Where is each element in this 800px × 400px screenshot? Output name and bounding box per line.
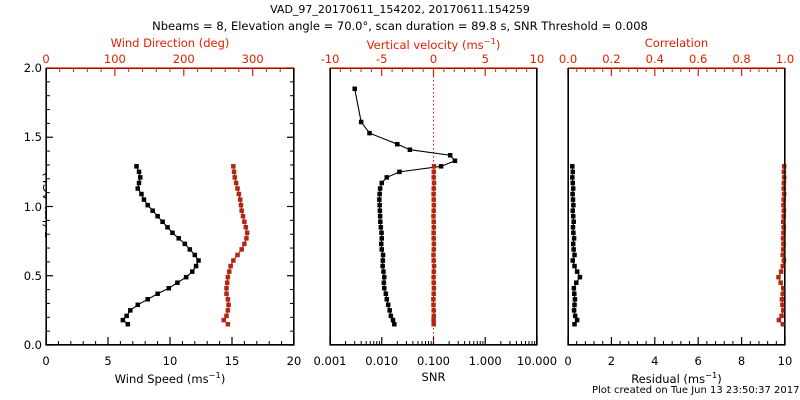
x-tick-label-p3-1: 2 (608, 354, 615, 368)
x-tick-label-p3-0: 0 (564, 354, 571, 368)
x-top-tick-label-p2-2: 0 (430, 52, 437, 66)
y-tick-label-4: 2.0 (24, 61, 42, 75)
x-tick-label-p3-3: 6 (695, 354, 702, 368)
x-top-tick-label-p1-0: 0 (42, 52, 49, 66)
series-snr (353, 87, 457, 326)
vad-profile-figure: VAD_97_20170611_154202, 20170611.154259 … (0, 0, 800, 400)
x-top-tick-label-p3-2: 0.4 (646, 52, 664, 66)
series-residual (570, 164, 582, 326)
plot-created-footer: Plot created on Tue Jun 13 23:50:37 2017 (592, 385, 799, 396)
axis-title-bottom-p3: Residual (ms−1) (537, 370, 800, 386)
x-tick-label-p3-2: 4 (651, 354, 658, 368)
x-tick-label-p2-1: 0.010 (365, 354, 398, 368)
x-top-tick-label-p3-5: 1.0 (776, 52, 794, 66)
x-tick-label-p1-3: 15 (225, 354, 240, 368)
series-vertical-velocity (431, 164, 436, 326)
x-top-tick-label-p2-4: 10 (530, 52, 545, 66)
y-tick-label-0: 0.0 (24, 338, 42, 352)
x-tick-label-p3-5: 10 (778, 354, 793, 368)
x-tick-label-p1-2: 10 (163, 354, 178, 368)
x-top-tick-label-p2-1: -5 (376, 52, 387, 66)
axis-title-bottom-p2: SNR (294, 370, 574, 384)
x-tick-label-p1-1: 5 (104, 354, 111, 368)
x-tick-label-p2-2: 0.100 (417, 354, 450, 368)
x-top-tick-label-p2-0: -10 (321, 52, 340, 66)
x-top-tick-label-p3-3: 0.6 (689, 52, 707, 66)
series-wind-direction (222, 164, 249, 326)
x-tick-label-p2-4: 10.000 (517, 354, 557, 368)
x-top-tick-label-p1-2: 200 (173, 52, 195, 66)
axis-title-top-p1: Wind Direction (deg) (30, 36, 310, 50)
x-tick-label-p1-0: 0 (42, 354, 49, 368)
axis-title-bottom-p1: Wind Speed (ms−1) (30, 370, 310, 386)
x-tick-label-p3-4: 8 (738, 354, 745, 368)
axis-title-top-p3: Correlation (537, 36, 800, 50)
series-wind-speed (121, 164, 201, 326)
x-top-tick-label-p1-3: 300 (242, 52, 264, 66)
axis-title-top-p2: Vertical velocity (ms−1) (294, 36, 574, 52)
x-top-tick-label-p1-1: 100 (104, 52, 126, 66)
x-top-tick-label-p3-0: 0.0 (559, 52, 577, 66)
y-tick-label-2: 1.0 (24, 200, 42, 214)
x-top-tick-label-p3-4: 0.8 (732, 52, 750, 66)
x-tick-label-p2-0: 0.001 (314, 354, 347, 368)
x-top-tick-label-p2-3: 5 (482, 52, 489, 66)
x-top-tick-label-p3-1: 0.2 (602, 52, 620, 66)
x-tick-label-p1-4: 20 (287, 354, 302, 368)
y-tick-label-1: 0.5 (24, 269, 42, 283)
x-tick-label-p2-3: 1.000 (469, 354, 502, 368)
y-tick-label-3: 1.5 (24, 130, 42, 144)
